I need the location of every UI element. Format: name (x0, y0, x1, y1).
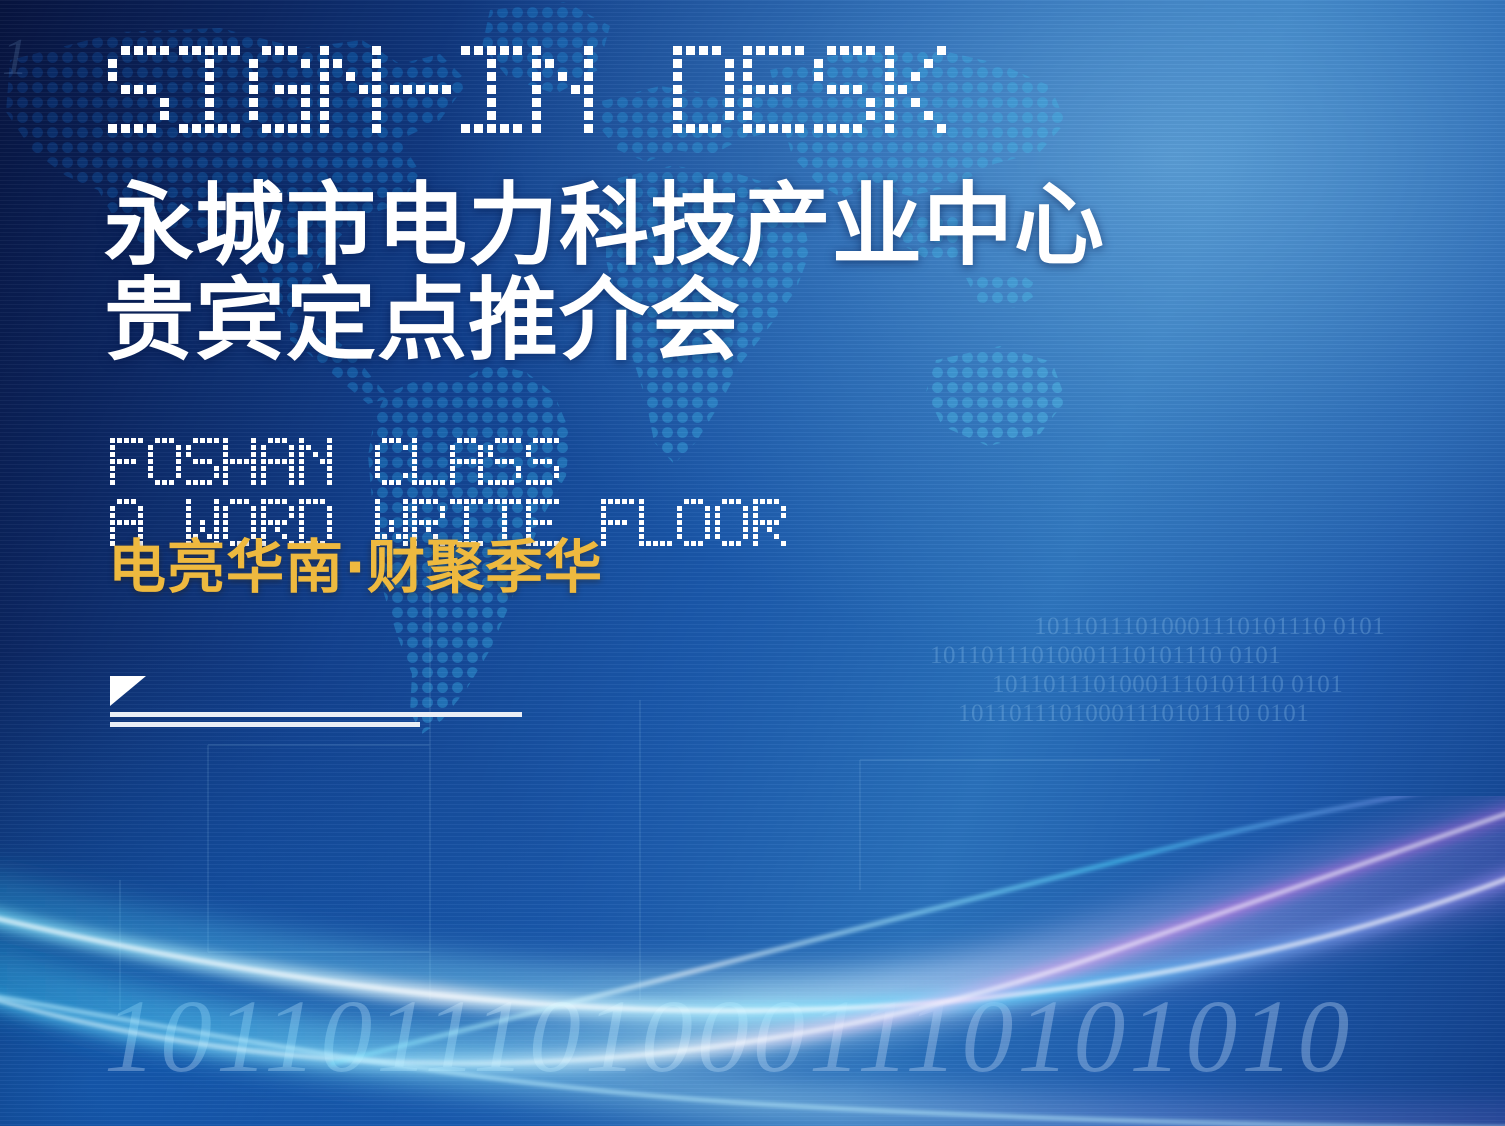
binary-line: 10110111010001110101110 0101 (930, 641, 1490, 670)
light-streaks (0, 796, 1505, 1126)
binary-line: 10110111010001110101110 0101 (1034, 612, 1490, 641)
stray-binary-digit: 1 (2, 28, 28, 87)
subtitle-led-text (110, 438, 790, 548)
binary-line: 10110111010001110101110 0101 (992, 670, 1490, 699)
triangle-flag-icon (110, 676, 146, 706)
binary-line: 10110111010001110101110 0101 (958, 699, 1490, 728)
binary-lines-group: 10110111010001110101110 0101 10110111010… (930, 612, 1490, 728)
subtitle-led-line (110, 438, 790, 487)
page-title: 永城市电力科技产业中心 贵宾定点推介会 (104, 178, 1105, 368)
title-line-2: 贵宾定点推介会 (104, 273, 1105, 368)
poster-canvas: 1 永城市电力科技产业中心 贵宾定点推介会 电亮华南·财聚季华 10110111… (0, 0, 1505, 1126)
title-line-1: 永城市电力科技产业中心 (104, 173, 1105, 278)
decorative-flag-rules (110, 676, 530, 732)
rule-short (110, 722, 420, 727)
slogan-text: 电亮华南·财聚季华 (108, 536, 603, 598)
world-map-dots (0, 0, 1090, 780)
rule-long (110, 712, 522, 717)
binary-big-text: 10110111010001110101010 (104, 985, 1505, 1089)
kicker-led-text (108, 46, 955, 137)
